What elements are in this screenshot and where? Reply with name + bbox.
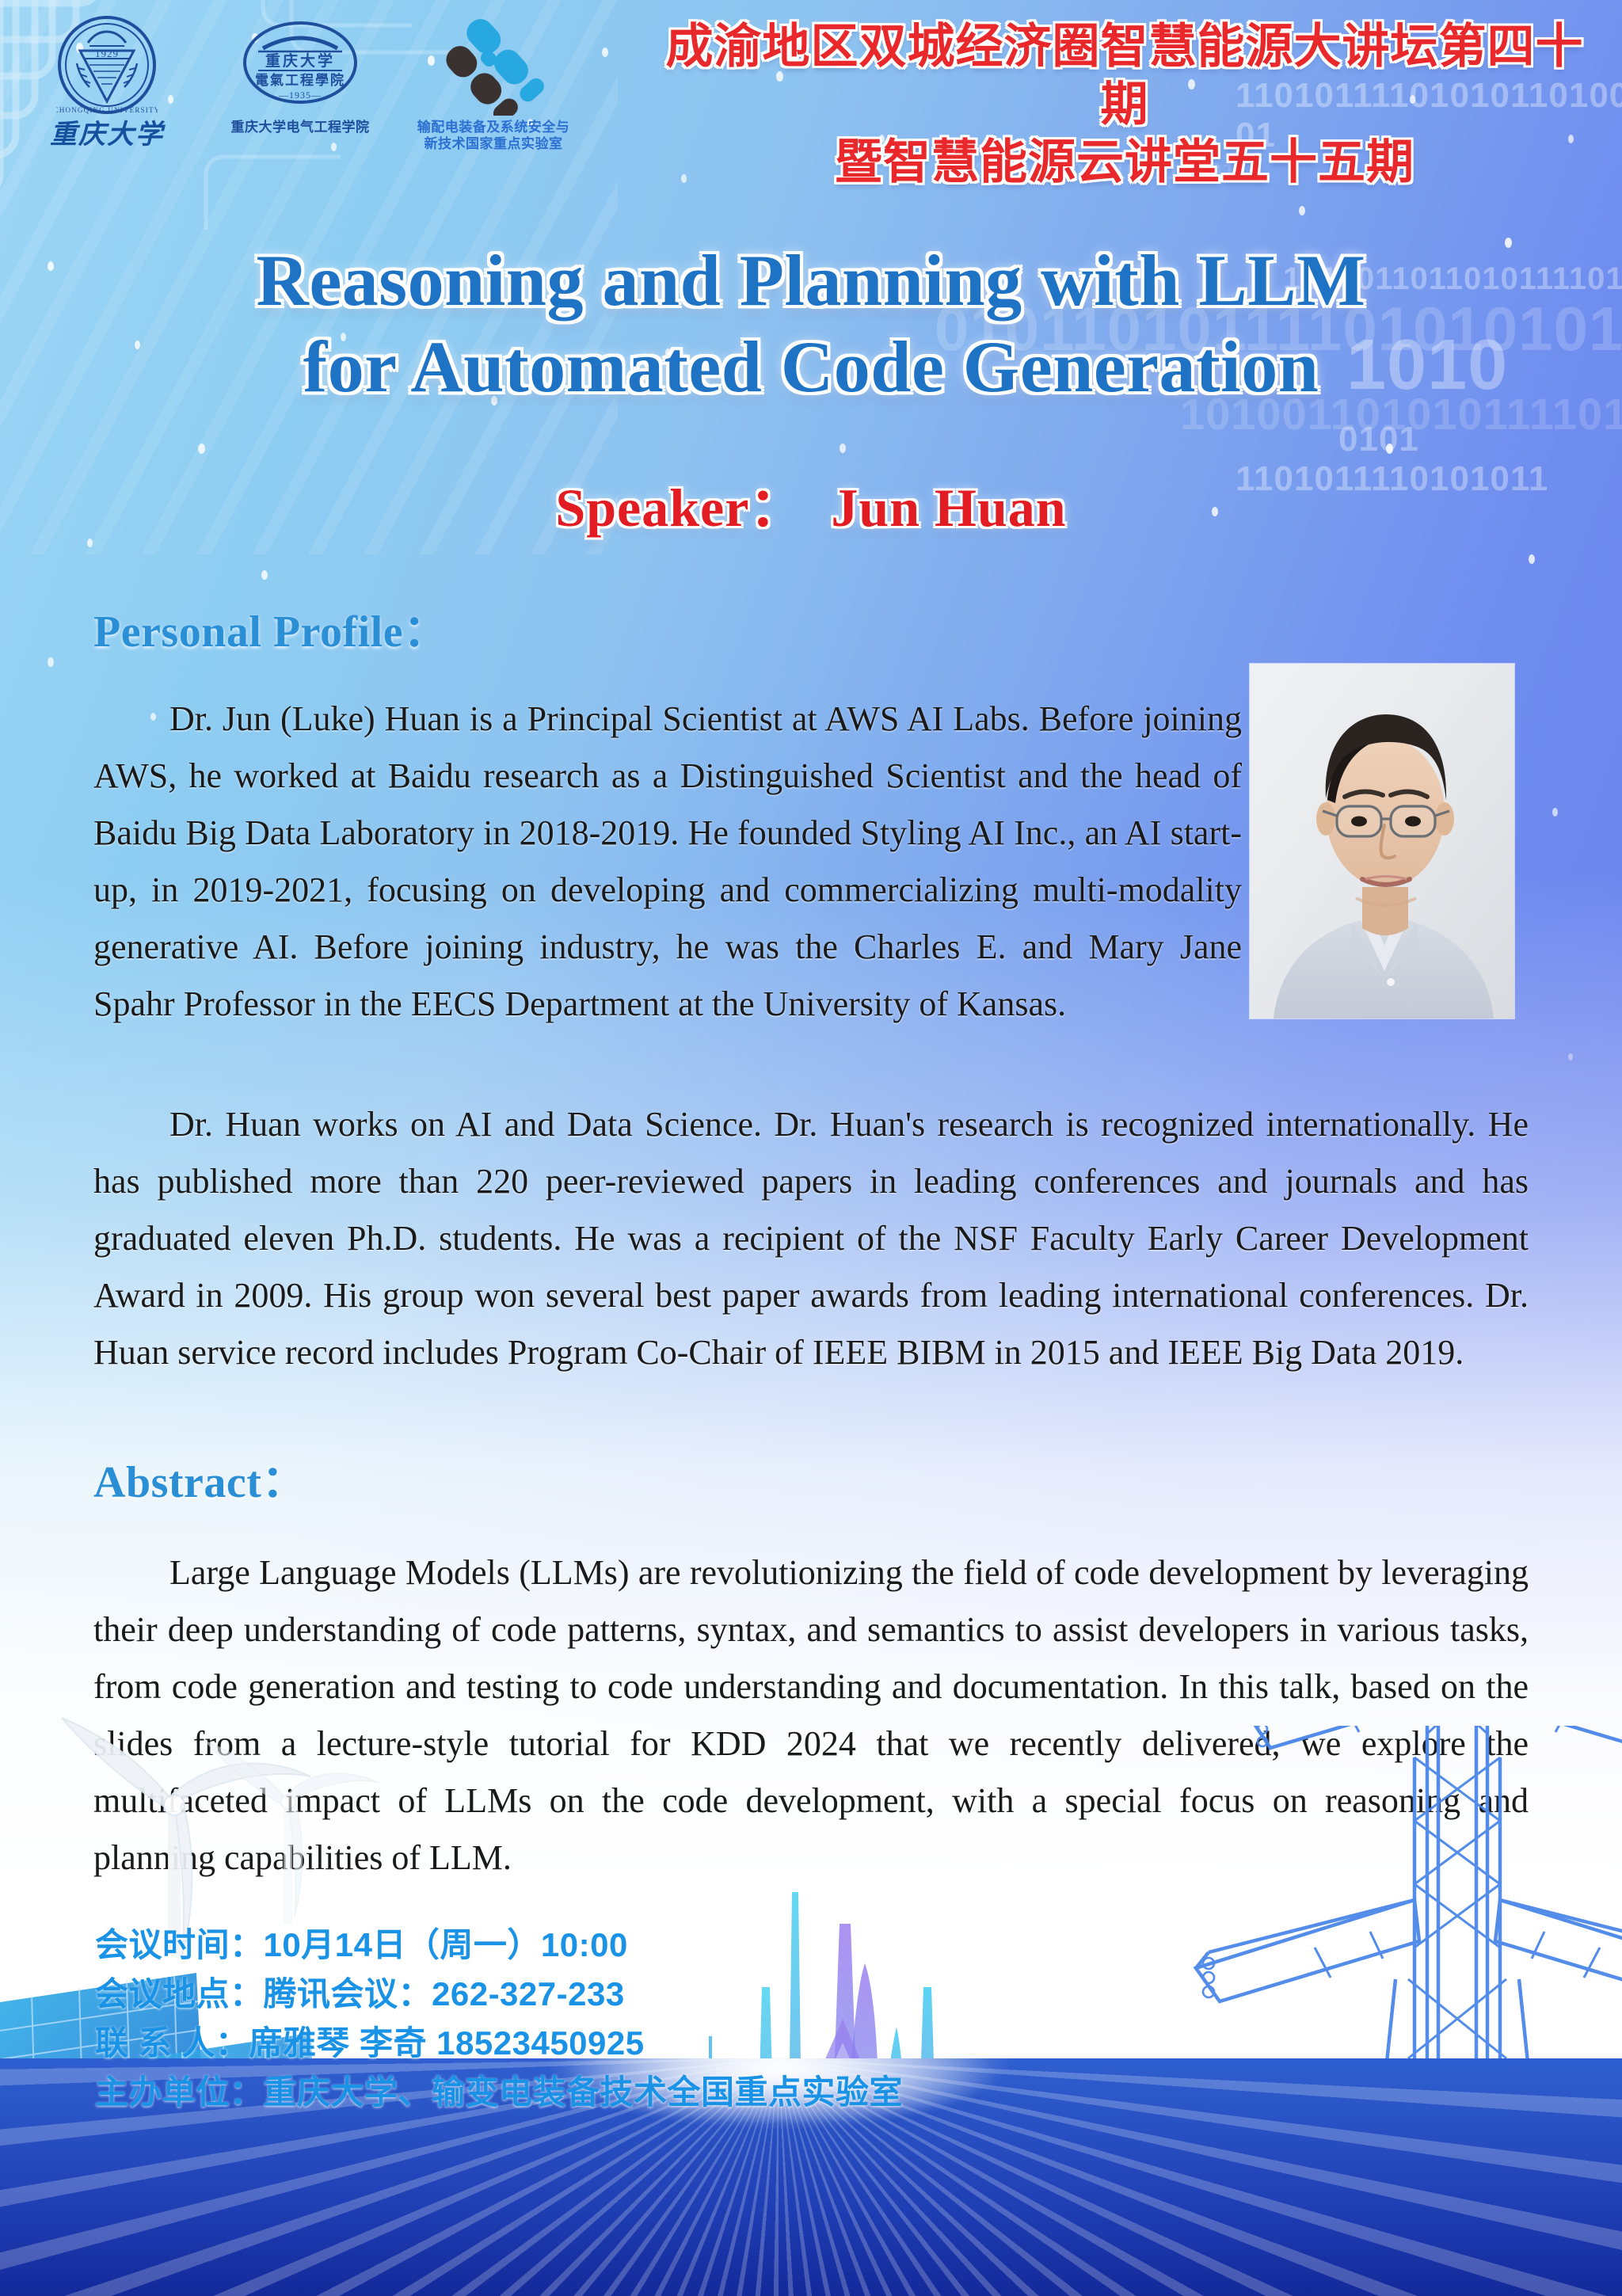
meeting-contacts: 联 系 人：席雅琴 李奇 18523450925 xyxy=(95,2019,1045,2068)
logo-state-key-lab: 输配电装备及系统安全与 新技术国家重点实验室 xyxy=(410,14,577,153)
abstract-heading: Abstract： xyxy=(93,1446,307,1510)
speaker-line: Speaker：Jun Huan xyxy=(0,463,1622,542)
logo-chongqing-university: 1929 CHONGQING UNIVERSITY 重庆大学 xyxy=(24,14,190,153)
logo-caption: 输配电装备及系统安全与 新技术国家重点实验室 xyxy=(417,119,570,153)
chongqing-university-seal-icon: 1929 CHONGQING UNIVERSITY xyxy=(56,14,158,116)
binary-text-decoration: 0101 xyxy=(1338,420,1419,459)
poster-header: 1929 CHONGQING UNIVERSITY 重庆大学 xyxy=(0,0,1622,198)
state-key-lab-logo-icon xyxy=(443,14,544,116)
meeting-time: 会议时间：10月14日（周一）10:00 xyxy=(95,1921,1045,1970)
logo-caption: 重庆大学电气工程学院 xyxy=(231,119,370,135)
personal-profile-heading-text: Personal Profile xyxy=(93,607,403,657)
personal-profile-paragraph-1: Dr. Jun (Luke) Huan is a Principal Scien… xyxy=(93,691,1242,1033)
meeting-details: 会议时间：10月14日（周一）10:00 会议地点：腾讯会议：262-327-2… xyxy=(95,1921,1045,2117)
title-line-2: for Automated Code Generation xyxy=(0,324,1622,410)
personal-profile-heading-colon: ： xyxy=(403,607,448,657)
event-series-title: 成渝地区双城经济圈智慧能源大讲坛第四十期 暨智慧能源云讲堂五十五期 xyxy=(649,17,1600,192)
abstract-paragraph-1: Large Language Models (LLMs) are revolut… xyxy=(93,1544,1529,1887)
logo-cqu-electrical-engineering: 重庆大学 電氣工程學院 —1935— 重庆大学电气工程学院 xyxy=(217,14,383,135)
logo-row: 1929 CHONGQING UNIVERSITY 重庆大学 xyxy=(24,14,577,153)
svg-text:CHONGQING UNIVERSITY: CHONGQING UNIVERSITY xyxy=(56,106,158,114)
event-title-line-1: 成渝地区双城经济圈智慧能源大讲坛第四十期 xyxy=(666,20,1584,131)
meeting-organizers: 主办单位：重庆大学、输变电装备技术全国重点实验室 xyxy=(95,2068,1045,2117)
speaker-label: Speaker： xyxy=(555,478,804,538)
event-title-line-2: 暨智慧能源云讲堂五十五期 xyxy=(649,133,1600,191)
seminar-poster: 11010111101010110100 01 1010011011010111… xyxy=(0,0,1622,2296)
page-title: Reasoning and Planning with LLM for Auto… xyxy=(0,238,1622,409)
meeting-place: 会议地点：腾讯会议：262-327-233 xyxy=(95,1970,1045,2019)
svg-text:1929: 1929 xyxy=(95,48,119,59)
cqu-electrical-engineering-seal-icon: 重庆大学 電氣工程學院 —1935— xyxy=(241,14,360,116)
speaker-name: Jun Huan xyxy=(831,478,1066,538)
abstract-heading-text: Abstract xyxy=(93,1458,261,1507)
svg-text:—1935—: —1935— xyxy=(278,89,322,101)
personal-profile-heading: Personal Profile： xyxy=(93,596,448,660)
svg-text:電氣工程學院: 電氣工程學院 xyxy=(255,72,345,88)
avatar xyxy=(1250,664,1514,1019)
logo-caption: 重庆大学 xyxy=(50,119,164,153)
abstract-heading-colon: ： xyxy=(261,1458,307,1507)
personal-profile-paragraph-2: Dr. Huan works on AI and Data Science. D… xyxy=(93,1096,1529,1381)
svg-text:重庆大学: 重庆大学 xyxy=(265,51,335,70)
title-line-1: Reasoning and Planning with LLM xyxy=(257,240,1366,321)
